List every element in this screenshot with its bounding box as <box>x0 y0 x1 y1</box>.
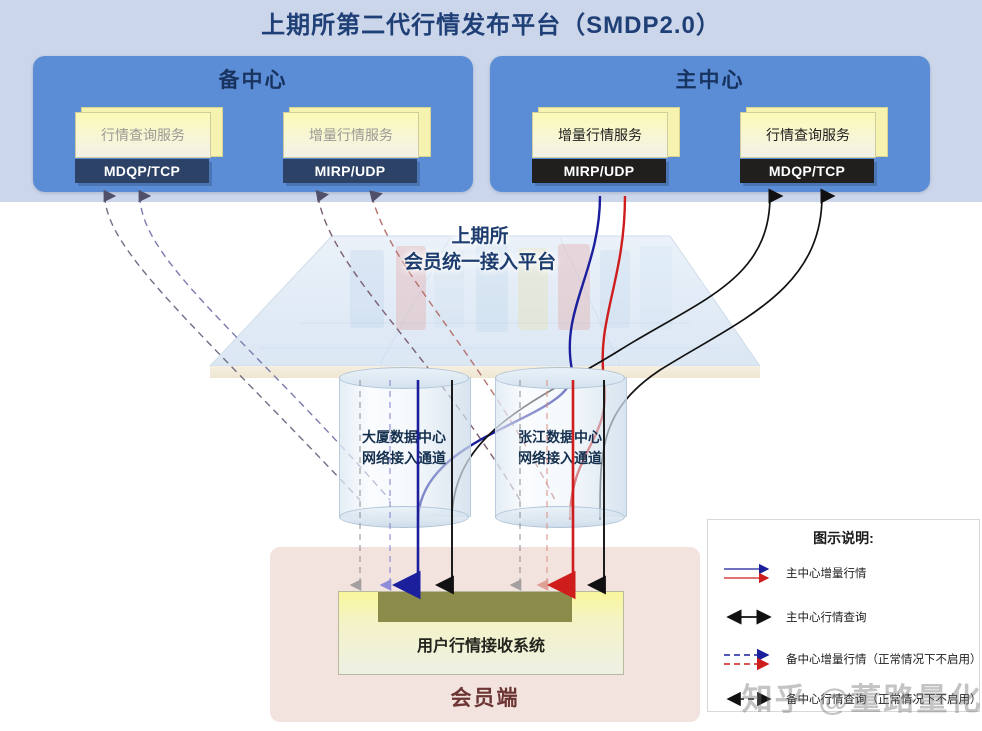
legend-item-main-query: 主中心行情查询 <box>720 602 970 632</box>
legend-label: 主中心增量行情 <box>782 565 867 581</box>
legend-marker-bidirectional <box>720 604 782 630</box>
legend-item-main-incremental: 主中心增量行情 <box>720 558 970 588</box>
center-panel-main: 主中心 增量行情服务 MIRP/UDP 行情查询服务 MDQP/TCP <box>490 56 930 192</box>
legend-marker-dashed-pair <box>720 646 782 672</box>
service-label: 行情查询服务 <box>75 112 211 158</box>
protocol-badge: MIRP/UDP <box>532 159 666 183</box>
cylinder-label: 张江数据中心 网络接入通道 <box>495 427 625 469</box>
member-panel: 用户行情接收系统 会员端 <box>270 547 700 722</box>
protocol-badge: MDQP/TCP <box>75 159 209 183</box>
receiver-bar <box>378 592 572 622</box>
receiver-system-box: 用户行情接收系统 <box>338 591 624 675</box>
service-node-backup-mirp[interactable]: 增量行情服务 MIRP/UDP <box>283 112 423 183</box>
service-label: 增量行情服务 <box>532 112 668 158</box>
platform-label: 上期所 会员统一接入平台 <box>200 224 760 275</box>
service-label: 增量行情服务 <box>283 112 419 158</box>
receiver-system-label: 用户行情接收系统 <box>339 632 623 656</box>
legend-item-backup-incremental: 备中心增量行情（正常情况下不启用） <box>720 644 970 674</box>
cylinder-label-line1: 大厦数据中心 <box>339 427 469 448</box>
cylinder-top <box>495 367 625 389</box>
protocol-badge: MDQP/TCP <box>740 159 874 183</box>
legend-box: 图示说明: 主中心增量行情 <box>707 519 980 712</box>
cylinder-bottom <box>339 506 469 528</box>
access-platform-illustration: 上期所 会员统一接入平台 <box>200 228 760 386</box>
service-node-backup-mdqp[interactable]: 行情查询服务 MDQP/TCP <box>75 112 215 183</box>
legend-item-backup-query: 备中心行情查询（正常情况下不启用） <box>720 684 970 714</box>
cylinder-daxia: 大厦数据中心 网络接入通道 <box>339 367 469 525</box>
center-panel-backup: 备中心 行情查询服务 MDQP/TCP 增量行情服务 MIRP/UDP <box>33 56 473 192</box>
platform-label-line1: 上期所 <box>200 224 760 250</box>
platform-label-line2: 会员统一接入平台 <box>200 250 760 276</box>
legend-label: 备中心行情查询（正常情况下不启用） <box>782 691 982 707</box>
cylinder-label: 大厦数据中心 网络接入通道 <box>339 427 469 469</box>
cylinder-zhangjiang: 张江数据中心 网络接入通道 <box>495 367 625 525</box>
member-section-title: 会员端 <box>270 682 700 712</box>
center-title-main: 主中心 <box>490 64 930 94</box>
center-title-backup: 备中心 <box>33 64 473 94</box>
cylinder-label-line1: 张江数据中心 <box>495 427 625 448</box>
service-node-main-mirp[interactable]: 增量行情服务 MIRP/UDP <box>532 112 672 183</box>
legend-label: 备中心增量行情（正常情况下不启用） <box>782 651 982 667</box>
page-title: 上期所第二代行情发布平台（SMDP2.0） <box>0 2 982 42</box>
service-node-main-mdqp[interactable]: 行情查询服务 MDQP/TCP <box>740 112 880 183</box>
cylinder-bottom <box>495 506 625 528</box>
cylinder-label-line2: 网络接入通道 <box>339 448 469 469</box>
legend-marker-dashed-bidirectional <box>720 686 782 712</box>
legend-label: 主中心行情查询 <box>782 609 867 625</box>
service-label: 行情查询服务 <box>740 112 876 158</box>
legend-marker-solid-pair <box>720 560 782 586</box>
protocol-badge: MIRP/UDP <box>283 159 417 183</box>
legend-title: 图示说明: <box>708 528 979 548</box>
diagram-canvas: 上期所第二代行情发布平台（SMDP2.0） 备中心 行情查询服务 MDQP/TC… <box>0 0 982 731</box>
cylinder-label-line2: 网络接入通道 <box>495 448 625 469</box>
cylinder-top <box>339 367 469 389</box>
